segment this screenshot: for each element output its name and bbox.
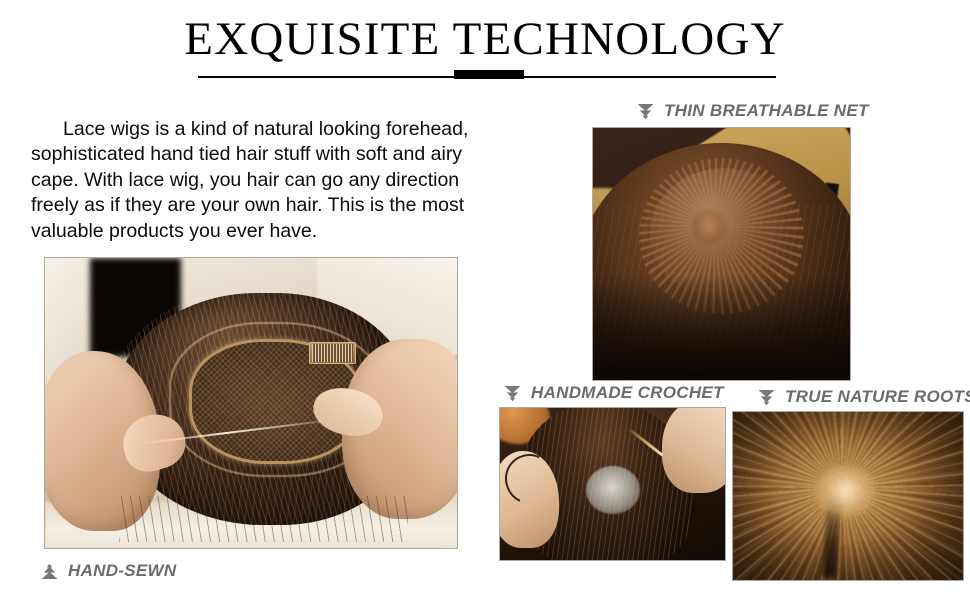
intro-paragraph: Lace wigs is a kind of natural looking f… <box>31 117 501 245</box>
title-accent-bar <box>454 70 524 79</box>
photo-layer-lace-patch <box>586 466 640 515</box>
caption-label: HAND-SEWN <box>68 561 176 581</box>
photo-layer-loose-hairs <box>119 496 407 542</box>
caption-thin-breathable-net: THIN BREATHABLE NET <box>636 101 869 121</box>
caption-label: THIN BREATHABLE NET <box>664 101 869 121</box>
caption-label: HANDMADE CROCHET <box>531 383 724 403</box>
chevron-up-double-icon <box>40 563 59 580</box>
photo-true-nature-roots <box>733 412 963 580</box>
photo-handmade-crochet <box>500 408 725 560</box>
photo-layer-vignette <box>733 412 963 580</box>
chevron-down-double-icon <box>757 389 776 406</box>
caption-hand-sewn: HAND-SEWN <box>40 561 176 581</box>
photo-layer-hand-upper <box>662 408 725 493</box>
caption-handmade-crochet: HANDMADE CROCHET <box>503 383 724 403</box>
chevron-down-double-icon <box>636 103 655 120</box>
page-title: EXQUISITE TECHNOLOGY <box>0 16 970 63</box>
photo-layer-wig-clip <box>309 342 356 364</box>
photo-thin-breathable-net <box>593 128 850 380</box>
chevron-down-double-icon <box>503 385 522 402</box>
photo-hand-sewn <box>45 258 457 548</box>
header: EXQUISITE TECHNOLOGY <box>0 0 970 90</box>
caption-true-nature-roots: TRUE NATURE ROOTS <box>757 387 970 407</box>
photo-layer-lower-shadow <box>593 274 850 380</box>
caption-label: TRUE NATURE ROOTS <box>785 387 970 407</box>
